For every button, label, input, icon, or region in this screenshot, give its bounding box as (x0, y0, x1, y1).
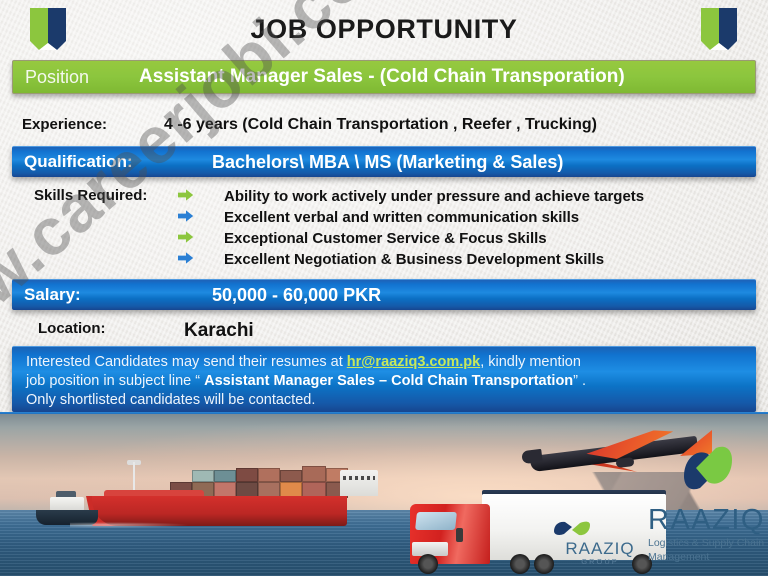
contact-line-2: job position in subject line “ Assistant… (26, 372, 756, 391)
contact-line-1: Interested Candidates may send their res… (26, 353, 756, 372)
truck-mirror (456, 528, 463, 542)
arrow-right-icon-green (178, 188, 224, 206)
arrow-right-icon-blue (178, 209, 224, 227)
contact-line1-prefix: Interested Candidates may send their res… (26, 354, 347, 370)
location-row: Location: Karachi (12, 320, 756, 342)
list-item: Excellent verbal and written communicati… (178, 207, 756, 228)
salary-value: 50,000 - 60,000 PKR (212, 285, 381, 306)
position-value: Assistant Manager Sales - (Cold Chain Tr… (139, 66, 625, 88)
shield-logo-icon (700, 7, 738, 51)
page-title: JOB OPPORTUNITY (0, 14, 768, 45)
arrow-right-icon-blue (178, 251, 224, 269)
trailer-wheel (534, 554, 554, 574)
brand-tagline-line1: Logistics & Supply Chain (648, 537, 768, 549)
location-value: Karachi (184, 320, 254, 342)
trailer-brand-mark: RAAZIQ GROUP (552, 540, 648, 566)
application-instructions-panel: Interested Candidates may send their res… (12, 346, 756, 412)
position-bar: Position Assistant Manager Sales - (Cold… (12, 60, 756, 94)
contact-line2-suffix: ” . (573, 373, 586, 389)
contact-line1-suffix: , kindly mention (480, 354, 581, 370)
raaziq-brand-mark: RAAZIQ Logistics & Supply Chain Manageme… (648, 506, 768, 563)
brand-name: RAAZIQ (648, 506, 768, 535)
position-label: Position (13, 67, 89, 88)
brand-tagline-line2: Management (648, 551, 768, 563)
truck-front-wheel (418, 554, 438, 574)
plane-engine (616, 457, 635, 468)
location-label: Location: (12, 320, 184, 337)
contact-line2-prefix: job position in subject line “ (26, 373, 204, 389)
tug-cabin (50, 497, 84, 511)
plane-nose (521, 449, 542, 464)
skill-text: Ability to work actively under pressure … (224, 188, 644, 205)
skill-text: Excellent Negotiation & Business Develop… (224, 251, 604, 268)
raaziq-swoosh-logo-icon (680, 438, 736, 500)
skills-label: Skills Required: (12, 186, 178, 270)
shield-logo-icon (29, 7, 67, 51)
qualification-bar: Qualification: Bachelors\ MBA \ MS (Mark… (12, 146, 756, 177)
list-item: Ability to work actively under pressure … (178, 186, 756, 207)
experience-row: Experience: 4 -6 years (Cold Chain Trans… (12, 116, 756, 134)
water-wake (70, 522, 190, 528)
contact-line-3: Only shortlisted candidates will be cont… (26, 391, 756, 410)
salary-bar: Salary: 50,000 - 60,000 PKR (12, 279, 756, 310)
truck-windshield (415, 512, 457, 530)
ship-superstructure (340, 470, 378, 496)
skill-text: Exceptional Customer Service & Focus Ski… (224, 230, 547, 247)
email-link[interactable]: hr@raaziq3.com.pk (347, 354, 480, 370)
trailer-brand-sub: GROUP (552, 557, 648, 566)
arrow-right-icon-green (178, 230, 224, 248)
trailer-wheel (510, 554, 530, 574)
skill-text: Excellent verbal and written communicati… (224, 209, 579, 226)
qualification-label: Qualification: (12, 152, 212, 172)
raaziq-swoosh-logo-icon (552, 518, 592, 540)
skills-section: Skills Required: Ability to work activel… (12, 186, 756, 270)
contact-line2-subject: Assistant Manager Sales – Cold Chain Tra… (204, 373, 573, 389)
experience-label: Experience: (12, 116, 164, 133)
salary-label: Salary: (12, 285, 212, 305)
qualification-value: Bachelors\ MBA \ MS (Marketing & Sales) (212, 152, 563, 173)
job-opportunity-poster: JOB OPPORTUNITY Position Assistant Manag… (0, 0, 768, 576)
experience-value: 4 -6 years (Cold Chain Transportation , … (164, 116, 597, 134)
skills-list: Ability to work actively under pressure … (178, 186, 756, 270)
list-item: Excellent Negotiation & Business Develop… (178, 249, 756, 270)
ship-mast (133, 462, 135, 492)
trailer-brand-name: RAAZIQ (552, 540, 648, 557)
list-item: Exceptional Customer Service & Focus Ski… (178, 228, 756, 249)
